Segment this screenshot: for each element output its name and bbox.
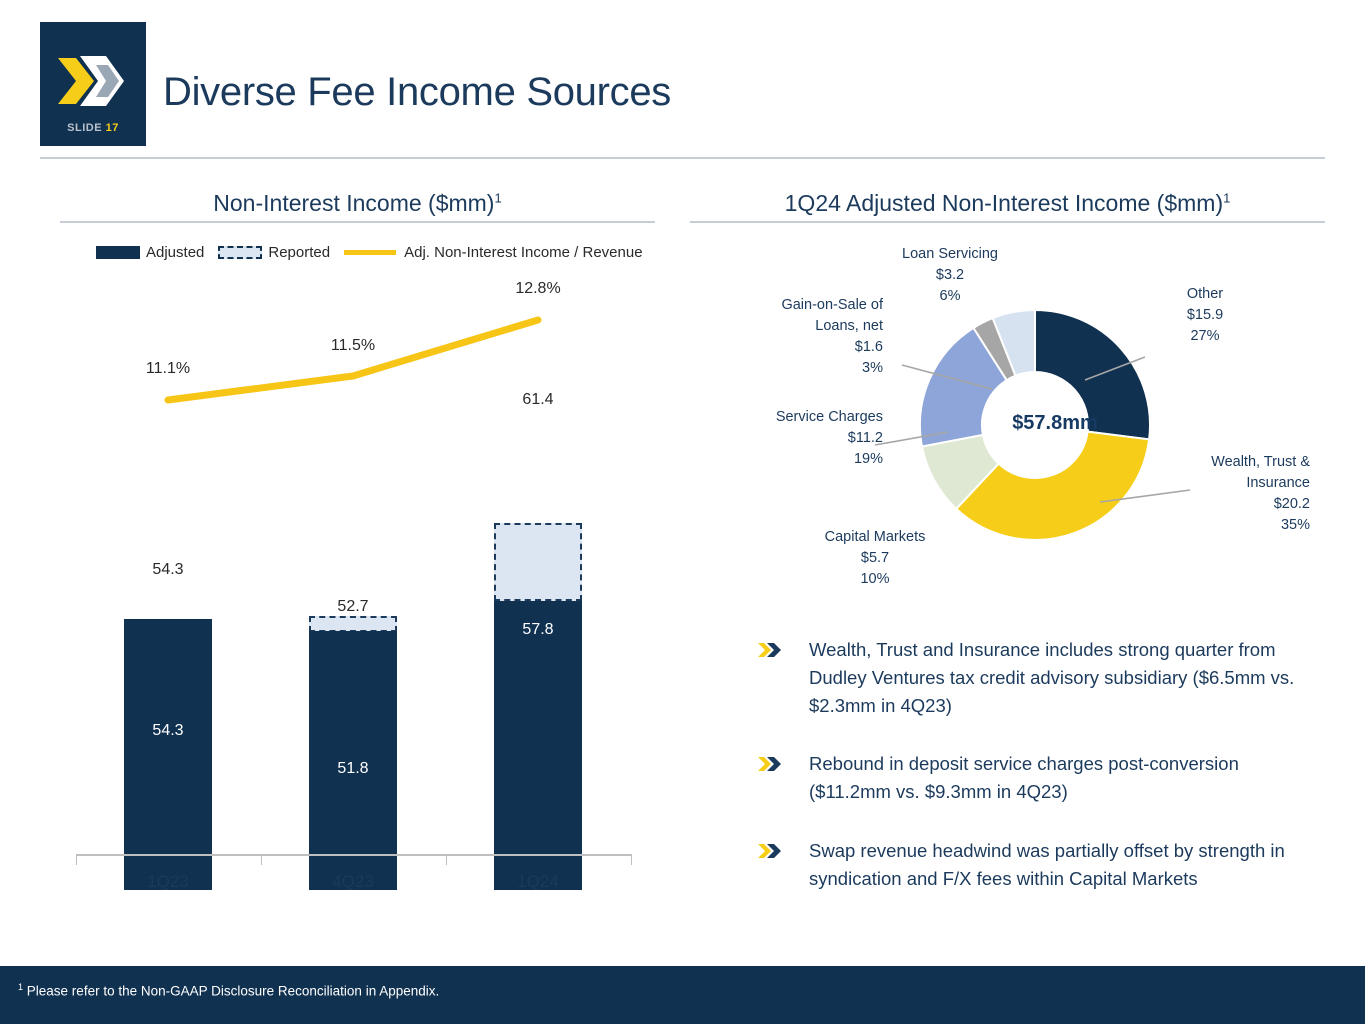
page-title: Diverse Fee Income Sources xyxy=(163,70,671,115)
bullet-list: Wealth, Trust and Insurance includes str… xyxy=(757,636,1317,923)
legend-swatch-line-icon xyxy=(344,250,396,255)
left-panel-title-text: Non-Interest Income ($mm) xyxy=(213,190,494,216)
donut-label-gain-on-sale-pct: 3% xyxy=(748,358,883,379)
donut-label-gain-on-sale-name1: Gain-on-Sale of xyxy=(748,295,883,316)
donut-label-gain-on-sale: Gain-on-Sale of Loans, net $1.6 3% xyxy=(748,295,883,379)
logo-badge: SLIDE 17 xyxy=(40,22,146,146)
chevron-bullet-icon xyxy=(757,755,783,773)
bar-reported-4q23 xyxy=(309,616,397,632)
donut-label-capital-markets-value: $5.7 xyxy=(800,548,950,569)
slide-number: 17 xyxy=(106,122,119,134)
bar-value-label-1q24: 57.8 xyxy=(494,621,582,639)
chevron-bullet-icon xyxy=(757,842,783,860)
bar-group-4q23: 52.7 51.8 xyxy=(309,304,397,890)
donut-chart: $57.8mm Loan Servicing $3.2 6% Gain-on-S… xyxy=(690,232,1325,612)
slide-label: SLIDE 17 xyxy=(40,122,146,134)
right-panel-title-text: 1Q24 Adjusted Non-Interest Income ($mm) xyxy=(785,190,1223,216)
bar-chart-legend: Adjusted Reported Adj. Non-Interest Inco… xyxy=(96,241,657,263)
axis-tick-3 xyxy=(631,855,632,865)
bar-adjusted-1q24 xyxy=(494,601,582,890)
footnote-superscript: 1 xyxy=(18,982,23,992)
right-panel-divider xyxy=(690,221,1325,223)
axis-tick-2 xyxy=(446,855,447,865)
bar-adjusted-1q23 xyxy=(124,619,212,890)
axis-tick-1 xyxy=(261,855,262,865)
bar-reported-1q24 xyxy=(494,523,582,601)
donut-label-capital-markets: Capital Markets $5.7 10% xyxy=(800,527,950,590)
donut-label-other-name: Other xyxy=(1145,284,1265,305)
list-item: Wealth, Trust and Insurance includes str… xyxy=(757,636,1317,720)
donut-label-capital-markets-pct: 10% xyxy=(800,569,950,590)
bar-chart: 54.3 54.3 52.7 51.8 61.4 57.8 11.1% 11.5… xyxy=(60,270,655,890)
donut-label-wealth-name1: Wealth, Trust & xyxy=(1160,452,1310,473)
donut-label-wealth-pct: 35% xyxy=(1160,515,1310,536)
bar-group-1q24: 61.4 57.8 xyxy=(494,304,582,890)
bar-total-label-1q23: 54.3 xyxy=(124,561,212,579)
donut-label-wealth-name2: Insurance xyxy=(1160,473,1310,494)
donut-label-service-charges-pct: 19% xyxy=(738,449,883,470)
bar-total-label-1q24: 61.4 xyxy=(494,391,582,409)
slide-header: SLIDE 17 Diverse Fee Income Sources xyxy=(0,0,1365,160)
left-panel-title-superscript: 1 xyxy=(494,190,501,205)
donut-center-total: $57.8mm xyxy=(995,412,1115,435)
left-panel-title: Non-Interest Income ($mm)1 xyxy=(60,190,655,217)
axis-label-1q23: 1Q23 xyxy=(108,872,228,892)
bullet-text: Rebound in deposit service charges post-… xyxy=(809,750,1317,806)
donut-label-wealth-value: $20.2 xyxy=(1160,494,1310,515)
donut-label-other: Other $15.9 27% xyxy=(1145,284,1265,347)
ratio-label-1q24: 12.8% xyxy=(503,280,573,298)
chevron-d-logo-icon xyxy=(56,52,130,110)
bar-chart-axis-line xyxy=(76,854,632,856)
ratio-label-1q23: 11.1% xyxy=(133,360,203,378)
footnote-text: 1 Please refer to the Non-GAAP Disclosur… xyxy=(18,982,439,999)
donut-label-capital-markets-name: Capital Markets xyxy=(800,527,950,548)
right-panel-title: 1Q24 Adjusted Non-Interest Income ($mm)1 xyxy=(690,190,1325,217)
legend-swatch-reported-icon xyxy=(218,246,262,259)
bar-value-label-1q23: 54.3 xyxy=(124,722,212,740)
donut-label-service-charges-name: Service Charges xyxy=(738,407,883,428)
list-item: Rebound in deposit service charges post-… xyxy=(757,750,1317,806)
donut-label-gain-on-sale-name2: Loans, net xyxy=(748,316,883,337)
bar-group-1q23: 54.3 54.3 xyxy=(124,304,212,890)
legend-item-reported: Reported xyxy=(218,244,330,261)
axis-tick-0 xyxy=(76,855,77,865)
left-panel-divider xyxy=(60,221,655,223)
donut-label-service-charges: Service Charges $11.2 19% xyxy=(738,407,883,470)
footnote-body: Please refer to the Non-GAAP Disclosure … xyxy=(27,984,439,999)
legend-label-ratio-line: Adj. Non-Interest Income / Revenue xyxy=(404,244,642,261)
right-panel-title-superscript: 1 xyxy=(1223,190,1230,205)
chevron-bullet-icon xyxy=(757,641,783,659)
donut-label-loan-servicing: Loan Servicing $3.2 6% xyxy=(875,244,1025,307)
bar-value-label-4q23: 51.8 xyxy=(309,760,397,778)
legend-label-adjusted: Adjusted xyxy=(146,244,204,261)
slide-word: SLIDE xyxy=(67,122,102,134)
donut-label-wealth: Wealth, Trust & Insurance $20.2 35% xyxy=(1160,452,1310,536)
legend-label-reported: Reported xyxy=(268,244,330,261)
bar-total-label-4q23: 52.7 xyxy=(309,598,397,616)
donut-label-loan-servicing-pct: 6% xyxy=(875,286,1025,307)
donut-label-other-value: $15.9 xyxy=(1145,305,1265,326)
donut-label-gain-on-sale-value: $1.6 xyxy=(748,337,883,358)
ratio-label-4q23: 11.5% xyxy=(318,337,388,355)
donut-label-other-pct: 27% xyxy=(1145,326,1265,347)
footnote-bar: 1 Please refer to the Non-GAAP Disclosur… xyxy=(0,966,1365,1024)
donut-label-service-charges-value: $11.2 xyxy=(738,428,883,449)
header-divider xyxy=(40,157,1325,159)
bullet-text: Swap revenue headwind was partially offs… xyxy=(809,837,1317,893)
list-item: Swap revenue headwind was partially offs… xyxy=(757,837,1317,893)
legend-item-ratio-line: Adj. Non-Interest Income / Revenue xyxy=(344,244,642,261)
donut-label-loan-servicing-value: $3.2 xyxy=(875,265,1025,286)
bullet-text: Wealth, Trust and Insurance includes str… xyxy=(809,636,1317,720)
axis-label-1q24: 1Q24 xyxy=(478,872,598,892)
donut-label-loan-servicing-name: Loan Servicing xyxy=(875,244,1025,265)
legend-item-adjusted: Adjusted xyxy=(96,244,204,261)
legend-swatch-adjusted-icon xyxy=(96,246,140,259)
axis-label-4q23: 4Q23 xyxy=(293,872,413,892)
